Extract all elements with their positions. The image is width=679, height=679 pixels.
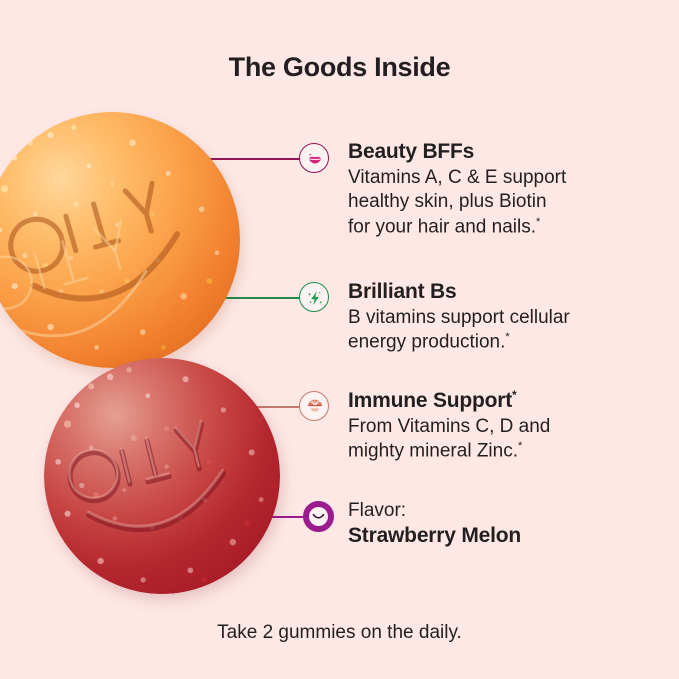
dosage-note: Take 2 gummies on the daily. — [0, 622, 679, 644]
flavor-value: Strawberry Melon — [348, 523, 658, 549]
infographic-canvas: The Goods Inside — [0, 0, 679, 679]
callout-flavor-text: Flavor: Strawberry Melon — [348, 499, 658, 549]
flavor-label: Flavor: — [348, 499, 658, 523]
olly-smile-icon — [303, 501, 334, 532]
callout-flavor: Flavor: Strawberry Melon — [0, 0, 679, 679]
